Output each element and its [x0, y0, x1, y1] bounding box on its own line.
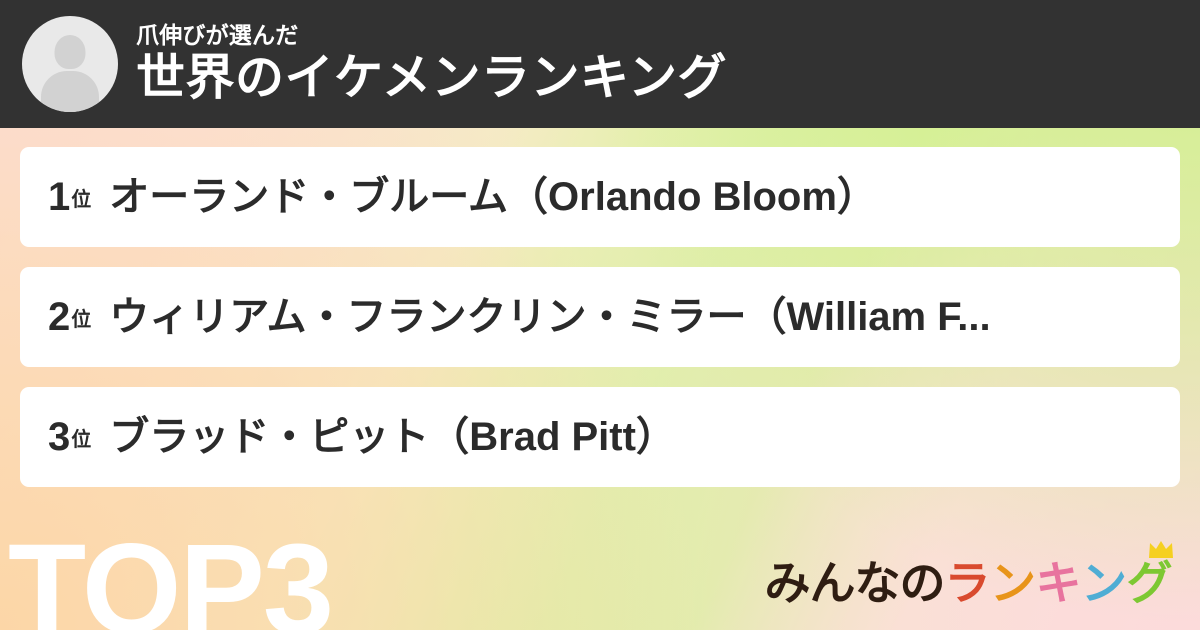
user-avatar-icon [22, 16, 118, 112]
avatar-body-shape [41, 71, 99, 112]
ranking-share-card: 爪伸びが選んだ 世界のイケメンランキング 1 位 オーランド・ブルーム（Orla… [0, 0, 1200, 630]
footer: TOP3 みんなの ラ ン キ ン グ [0, 500, 1200, 630]
rank-number: 1 [48, 177, 70, 217]
crown-icon [1148, 540, 1174, 560]
rank-number: 3 [48, 417, 70, 457]
rank-entry-name: ウィリアム・フランクリン・ミラー（William F... [109, 295, 990, 339]
logo-char-n1: ン [990, 560, 1036, 606]
avatar-head-shape [55, 35, 86, 69]
rank-row-3[interactable]: 3 位 ブラッド・ピット（Brad Pitt） [20, 387, 1180, 487]
ranking-list: 1 位 オーランド・ブルーム（Orlando Bloom） 2 位 ウィリアム・… [0, 128, 1200, 487]
logo-char-ra: ラ [945, 560, 991, 606]
rank-entry-name: オーランド・ブルーム（Orlando Bloom） [109, 175, 877, 219]
top3-label: TOP3 [8, 526, 332, 630]
logo-char-gu: グ [1127, 560, 1173, 606]
rank-entry-name: ブラッド・ピット（Brad Pitt） [109, 415, 676, 459]
rank-row-2[interactable]: 2 位 ウィリアム・フランクリン・ミラー（William F... [20, 267, 1180, 367]
header-text-group: 爪伸びが選んだ 世界のイケメンランキング [136, 23, 727, 105]
header-kicker: 爪伸びが選んだ [136, 23, 727, 48]
header: 爪伸びが選んだ 世界のイケメンランキング [0, 0, 1200, 128]
rank-suffix: 位 [71, 303, 91, 332]
rank-suffix: 位 [71, 183, 91, 212]
logo-char-ki: キ [1036, 560, 1082, 606]
logo-prefix-text: みんなの [765, 560, 945, 606]
logo-char-n2: ン [1081, 560, 1127, 606]
rank-number: 2 [48, 297, 70, 337]
logo-char-gu-text: グ [1127, 557, 1173, 609]
rank-row-1[interactable]: 1 位 オーランド・ブルーム（Orlando Bloom） [20, 147, 1180, 247]
site-logo[interactable]: みんなの ラ ン キ ン グ [765, 560, 1173, 606]
rank-suffix: 位 [71, 423, 91, 452]
page-title: 世界のイケメンランキング [136, 52, 727, 105]
